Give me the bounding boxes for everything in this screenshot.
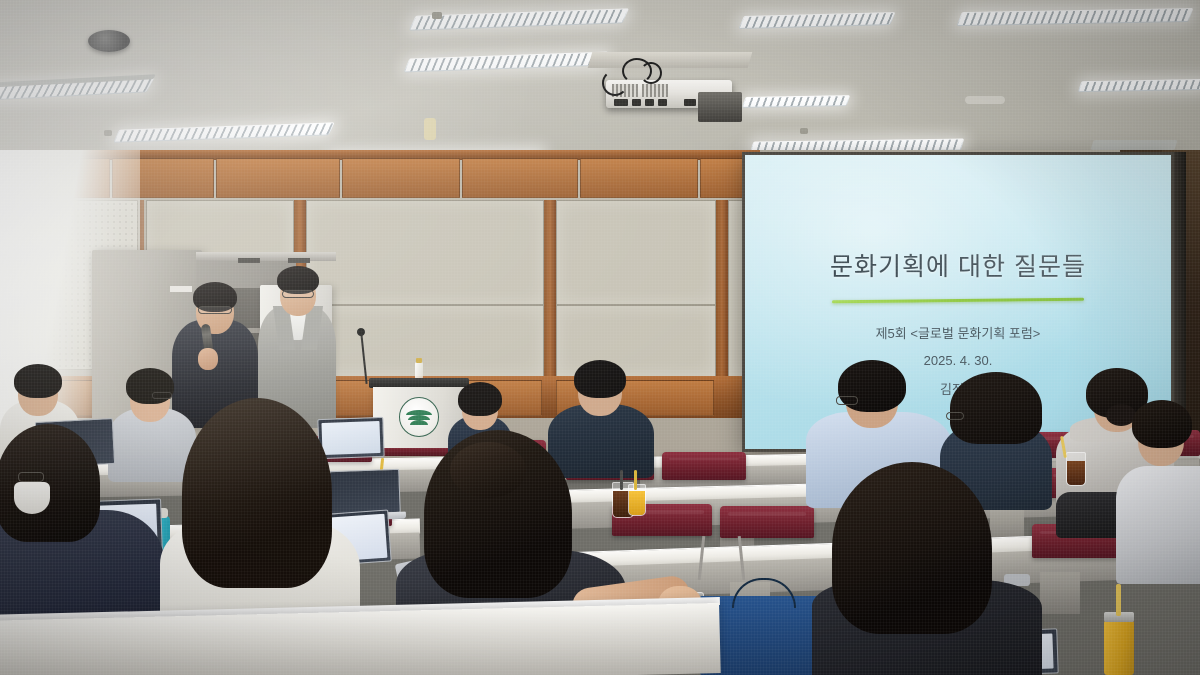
bottle-cap [416, 358, 422, 363]
projector-mount-plate [588, 52, 753, 68]
water-bottle [415, 362, 423, 379]
slide-subtitle: 제5회 <글로벌 문화기획 포럼> [876, 323, 1041, 342]
gooseneck-microphone-head [357, 328, 365, 336]
slide-accent-rule [832, 298, 1084, 304]
presenter-eyeglasses [198, 306, 232, 314]
ceiling-light [742, 95, 850, 108]
acoustic-panel [306, 305, 544, 377]
audience-hair [1132, 400, 1192, 448]
ceiling-light-frame [1090, 140, 1177, 150]
projector-lens-housing [698, 92, 742, 122]
lecture-hall-photo: 문화기획에 대한 질문들 제5회 <글로벌 문화기획 포럼> 2025. 4. … [0, 0, 1200, 675]
ceiling-vent [965, 96, 1005, 104]
slide-title: 문화기획에 대한 질문들 [830, 247, 1086, 283]
acoustic-panel [306, 200, 544, 305]
ceiling-light [404, 52, 609, 73]
ceiling-light [738, 12, 895, 29]
ceiling-light-frame [0, 74, 156, 89]
sprinkler-head [800, 128, 808, 134]
wood-post [544, 200, 556, 380]
audience-hair [458, 382, 502, 416]
cabinet-top-rail [196, 252, 336, 261]
hair-bun [450, 442, 526, 498]
projector-cable [640, 62, 662, 84]
audience-hair [832, 462, 992, 634]
ceiling-mounted-projector [596, 66, 736, 110]
ceiling-light [1078, 79, 1200, 92]
wood-panel [216, 158, 340, 198]
audience-hair [950, 372, 1042, 444]
audience-member-foreground [812, 462, 1052, 675]
eyeglasses [18, 472, 44, 482]
audience-hair [574, 360, 626, 398]
eyeglasses [946, 412, 964, 420]
projector-port [658, 99, 667, 106]
ceiling-light [113, 122, 334, 142]
sprinkler-head [432, 12, 442, 19]
iced-coffee-cup [1066, 452, 1086, 486]
audience-member-foreground [1116, 400, 1200, 580]
projector-port [632, 99, 641, 106]
wood-panel [342, 158, 460, 198]
ceiling-light [0, 77, 154, 101]
canned-drink [1104, 620, 1134, 675]
acoustic-panel [556, 200, 716, 305]
wood-panel [580, 158, 698, 198]
ceiling-light [957, 8, 1194, 26]
audience-torso [1116, 466, 1200, 584]
ceiling-speaker [88, 30, 130, 52]
wood-panel [462, 158, 578, 198]
wood-post [716, 200, 728, 380]
presenter-hand [198, 348, 218, 370]
drink-fill [1067, 461, 1085, 485]
sprinkler-head [104, 130, 112, 136]
audience-hair [182, 398, 332, 588]
audience-hair [14, 364, 62, 398]
emblem-wave-mark [406, 410, 432, 424]
cabinet-handle [238, 258, 260, 263]
projector-port [684, 99, 696, 106]
projector-vent [642, 84, 668, 97]
eyeglasses [836, 396, 858, 405]
straw [1116, 584, 1121, 616]
presenter-eyeglasses [282, 290, 314, 298]
ceiling-light [409, 8, 629, 30]
chair [662, 452, 746, 480]
projector-port [614, 99, 628, 106]
face-mask [14, 482, 50, 514]
projector-cable [602, 70, 628, 96]
chair [720, 506, 814, 538]
projector-port [645, 99, 654, 106]
pendant-sensor [424, 118, 436, 140]
